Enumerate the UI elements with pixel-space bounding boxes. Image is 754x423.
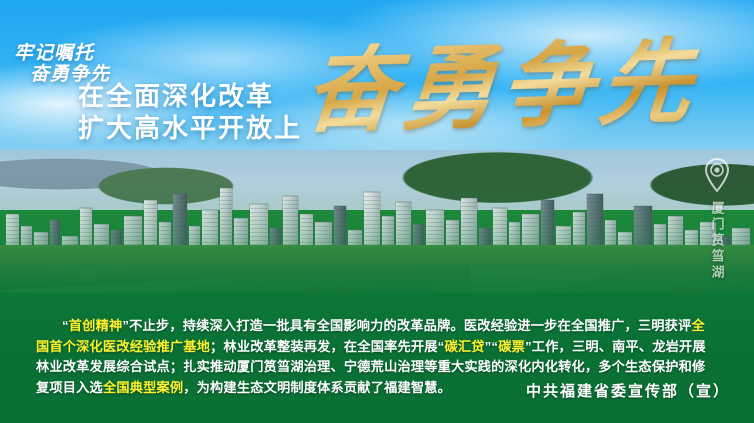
copy-plain: “ xyxy=(62,318,69,333)
copy-plain: ”“ xyxy=(485,339,499,354)
publisher-signature: 中共福建省委宣传部（宣） xyxy=(526,380,730,401)
location-watermark: 厦门筼筜湖 xyxy=(704,158,730,281)
subtitle-text: 在全面深化改革 扩大高水平开放上 xyxy=(78,80,302,144)
copy-highlight: 碳汇贷 xyxy=(444,339,484,354)
copy-highlight: 首创精神 xyxy=(69,318,123,333)
location-label: 厦门筼筜湖 xyxy=(708,201,727,281)
location-pin-icon xyxy=(704,158,730,197)
poster-canvas: 牢记嘱托 奋勇争先 在全面深化改革 扩大高水平开放上 奋勇争先 厦门筼筜湖 “首… xyxy=(0,0,754,423)
calligraphy-headline: 奋勇争先 xyxy=(301,33,702,141)
campaign-badge-line1: 牢记嘱托 xyxy=(14,43,94,64)
copy-highlight: 碳票 xyxy=(498,339,525,354)
copy-highlight: 全国典型案例 xyxy=(103,380,183,395)
copy-plain: ”不止步，持续深入打造一批具有全国影响力的改革品牌。医改经验进一步在全国推广，三… xyxy=(122,318,691,333)
copy-plain: ；林业改革整装再发，在全国率先开展“ xyxy=(210,339,444,354)
copy-plain: ，为构建生态文明制度体系贡献了福建智慧。 xyxy=(183,380,451,395)
